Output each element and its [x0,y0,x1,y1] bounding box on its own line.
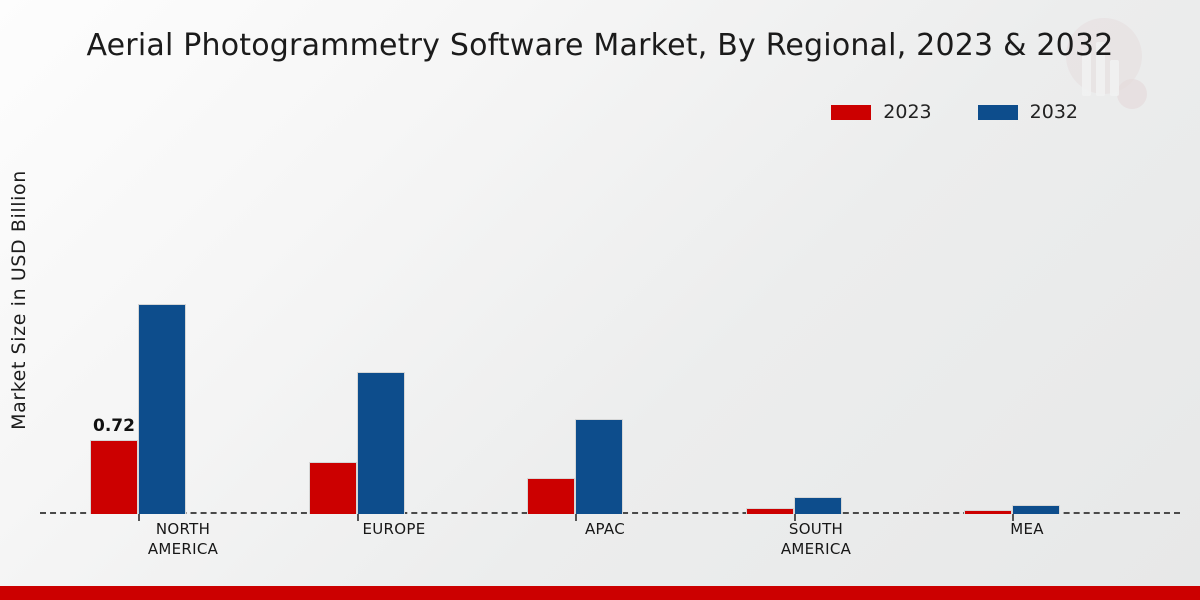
bar-group-south-america [746,150,932,514]
x-label-mea-line1: MEA [1010,520,1044,538]
x-label-south-america: SOUTH AMERICA [723,520,909,560]
bar-north-america-2023[interactable]: 0.72 [90,440,138,514]
legend-item-2023[interactable]: 2023 [831,103,931,122]
bar-europe-2032[interactable] [357,372,405,514]
plot-area: 0.72 [40,150,1190,514]
chart-container: Aerial Photogrammetry Software Market, B… [0,0,1200,600]
bar-label-north-america-2023: 0.72 [93,416,135,436]
chart-title: Aerial Photogrammetry Software Market, B… [0,28,1200,63]
y-axis-title-text: Market Size in USD Billion [8,170,30,430]
x-label-mea: MEA [934,520,1120,560]
bar-groups: 0.72 [90,150,1150,514]
x-label-south-america-line1: SOUTH [789,520,843,538]
x-label-north-america-line2: AMERICA [90,540,276,560]
x-axis-category-labels: NORTH AMERICA EUROPE APAC SOUTH AMERICA … [90,520,1120,560]
bar-group-north-america: 0.72 [90,150,276,514]
bar-mea-2032[interactable] [1012,505,1060,514]
x-label-apac-line1: APAC [585,520,625,538]
bar-south-america-2023[interactable] [746,508,794,514]
bar-group-europe [309,150,495,514]
bar-north-america-2032[interactable] [138,304,186,514]
bar-group-mea [964,150,1150,514]
x-label-south-america-line2: AMERICA [723,540,909,560]
x-label-europe-line1: EUROPE [362,520,425,538]
bar-mea-2023[interactable] [964,510,1012,514]
bar-apac-2023[interactable] [527,478,575,514]
bar-apac-2032[interactable] [575,419,623,514]
legend-label-2032: 2032 [1030,103,1078,122]
legend-swatch-2023 [831,105,871,120]
footer-accent-bar [0,586,1200,600]
x-label-north-america: NORTH AMERICA [90,520,276,560]
x-label-north-america-line1: NORTH [156,520,210,538]
bar-group-apac [527,150,713,514]
y-axis-title: Market Size in USD Billion [2,0,36,600]
x-label-apac: APAC [512,520,698,560]
x-label-europe: EUROPE [301,520,487,560]
chart-legend: 2023 2032 [831,103,1078,122]
bar-europe-2023[interactable] [309,462,357,514]
legend-swatch-2032 [978,105,1018,120]
legend-item-2032[interactable]: 2032 [978,103,1078,122]
bar-south-america-2032[interactable] [794,497,842,514]
legend-label-2023: 2023 [883,103,931,122]
